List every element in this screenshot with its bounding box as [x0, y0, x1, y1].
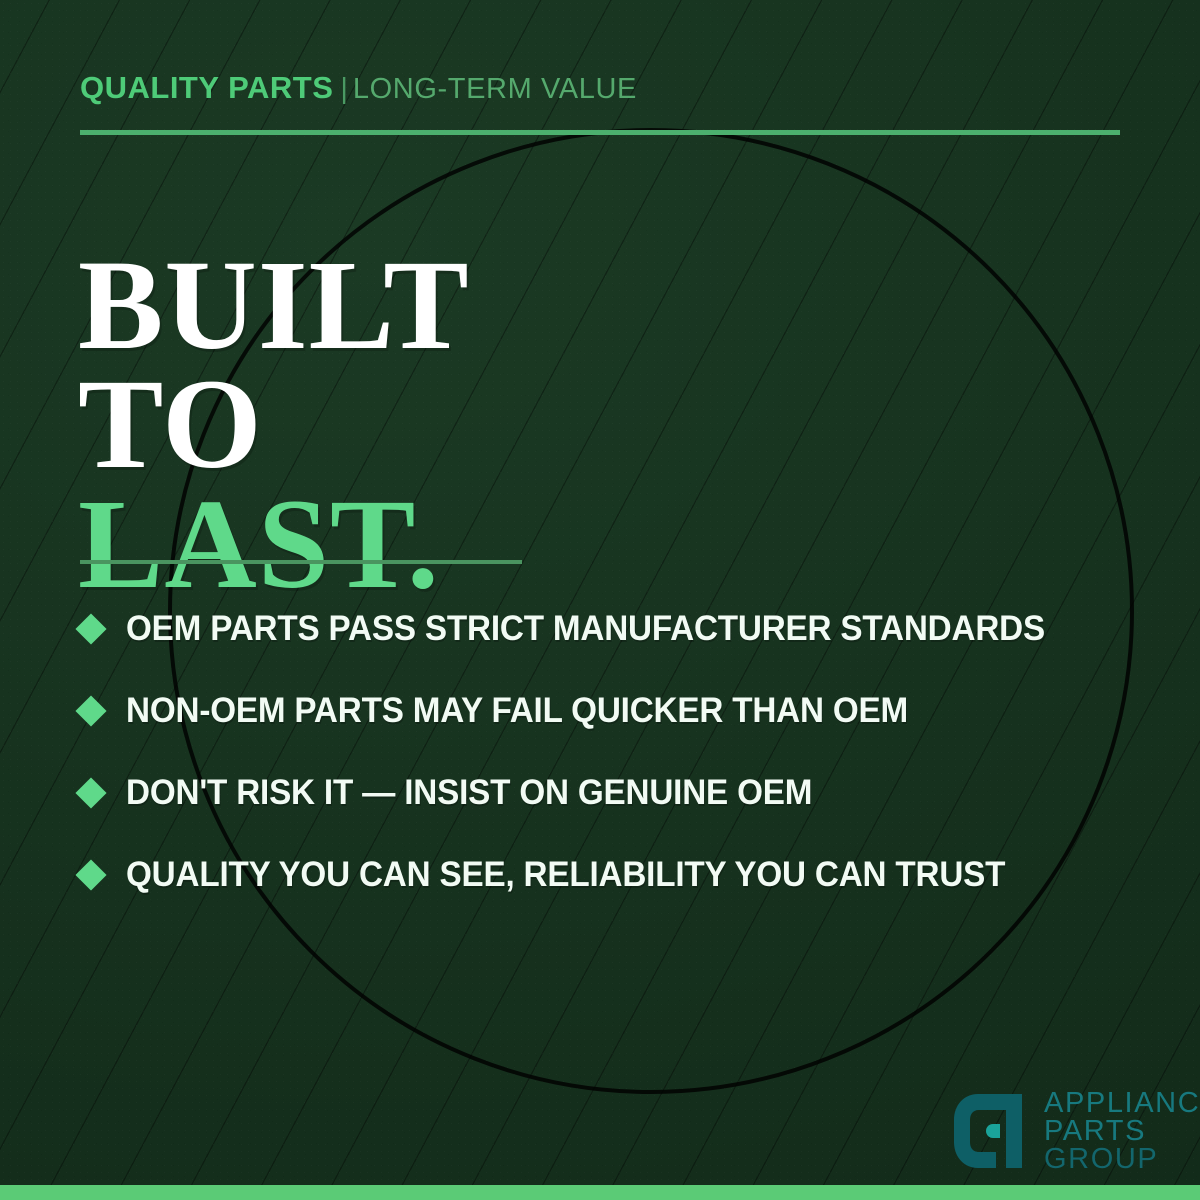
list-item-label: OEM PARTS PASS STRICT MANUFACTURER STAND…	[126, 609, 1045, 649]
eyebrow-strong-text: QUALITY PARTS	[80, 70, 333, 105]
list-item-label: DON'T RISK IT — INSIST ON GENUINE OEM	[126, 773, 812, 813]
list-item: NON-OEM PARTS MAY FAIL QUICKER THAN OEM	[80, 670, 1140, 752]
list-item: OEM PARTS PASS STRICT MANUFACTURER STAND…	[80, 588, 1140, 670]
list-item: DON'T RISK IT — INSIST ON GENUINE OEM	[80, 752, 1140, 834]
headline-line-3-accent: LAST.	[78, 485, 470, 605]
list-item: QUALITY YOU CAN SEE, RELIABILITY YOU CAN…	[80, 834, 1140, 916]
list-item-label: NON-OEM PARTS MAY FAIL QUICKER THAN OEM	[126, 691, 908, 731]
headline-line-2: TO	[78, 365, 470, 485]
list-item-label: QUALITY YOU CAN SEE, RELIABILITY YOU CAN…	[126, 855, 1005, 895]
brand-word-group: GROUP	[1044, 1146, 1200, 1174]
divider-top-rule	[80, 130, 1120, 135]
brand-logo: APPLIANCE PARTS GROUP	[948, 1088, 1200, 1174]
eyebrow-separator: |	[340, 73, 348, 105]
brand-word-appliance: APPLIANCE	[1044, 1090, 1200, 1118]
g-monogram-icon	[948, 1088, 1034, 1174]
diamond-bullet-icon	[75, 695, 106, 726]
diamond-bullet-icon	[75, 859, 106, 890]
poster-content: QUALITY PARTS|LONG-TERM VALUE BUILT TO L…	[0, 0, 1200, 1200]
diamond-bullet-icon	[75, 613, 106, 644]
diamond-bullet-icon	[75, 777, 106, 808]
page-title: BUILT TO LAST.	[78, 246, 470, 605]
eyebrow-light-text: LONG-TERM VALUE	[353, 73, 637, 105]
bottom-accent-bar	[0, 1185, 1200, 1200]
divider-mid-rule	[80, 560, 522, 564]
headline-line-1: BUILT	[78, 246, 470, 366]
brand-logo-wordmark: APPLIANCE PARTS GROUP	[1044, 1088, 1200, 1173]
benefit-list: OEM PARTS PASS STRICT MANUFACTURER STAND…	[80, 588, 1140, 916]
poster-canvas: QUALITY PARTS|LONG-TERM VALUE BUILT TO L…	[0, 0, 1200, 1200]
eyebrow-kicker: QUALITY PARTS|LONG-TERM VALUE	[80, 72, 637, 104]
brand-word-parts: PARTS	[1044, 1118, 1200, 1146]
